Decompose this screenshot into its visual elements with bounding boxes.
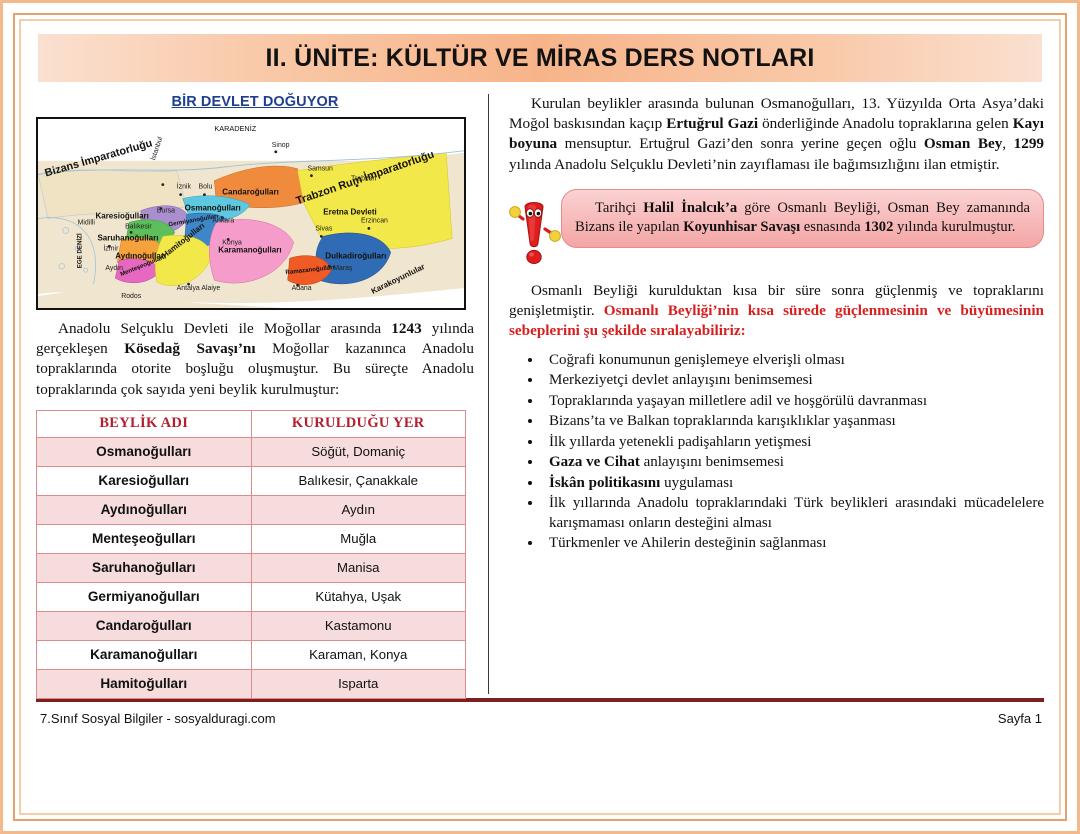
cell-beylik-name: Menteşeoğulları [37, 524, 252, 553]
map-label-karamanogullari: Karamanoğulları [218, 245, 281, 254]
cell-beylik-name: Karamanoğulları [37, 640, 252, 669]
cell-beylik-place: Balıkesir, Çanakkale [251, 466, 466, 495]
section-heading-bir-devlet-doguyor: BİR DEVLET DOĞUYOR [36, 94, 474, 110]
beylik-table: BEYLİK ADI KURULDUĞU YER OsmanoğullarıSö… [36, 410, 466, 699]
list-item: Topraklarında yaşayan milletlere adil ve… [543, 392, 1044, 412]
svg-text:Sinop: Sinop [272, 142, 290, 149]
svg-text:Maraş: Maraş [333, 265, 353, 272]
svg-text:Midilli: Midilli [78, 219, 96, 226]
table-row: HamitoğullarıIsparta [37, 669, 466, 698]
map-label-ege-denizi: EGE DENİZİ [77, 233, 84, 268]
map-label-karesiogullari: Karesioğulları [95, 211, 148, 220]
svg-text:Sivas: Sivas [315, 225, 332, 232]
info-callout-box: Tarihçi Halil İnalcık’a göre Osmanlı Bey… [561, 189, 1044, 249]
list-item: Gaza ve Cihat anlayışını benimsemesi [543, 453, 1044, 473]
page-title-banner: II. ÜNİTE: KÜLTÜR VE MİRAS DERS NOTLARI [38, 34, 1042, 82]
cell-beylik-name: Aydınoğulları [37, 495, 252, 524]
document-page: II. ÜNİTE: KÜLTÜR VE MİRAS DERS NOTLARI … [22, 22, 1058, 812]
table-row: AydınoğullarıAydın [37, 495, 466, 524]
cell-beylik-place: Kütahya, Uşak [251, 582, 466, 611]
paragraph-osmanogullari: Kurulan beylikler arasında bulunan Osman… [509, 94, 1044, 175]
list-item: Türkmenler ve Ahilerin desteğinin sağlan… [543, 534, 1044, 554]
table-row: KaresioğullarıBalıkesir, Çanakkale [37, 466, 466, 495]
table-row: SaruhanoğullarıManisa [37, 553, 466, 582]
svg-text:Adana: Adana [292, 285, 312, 292]
svg-text:Rodos: Rodos [121, 293, 142, 300]
cell-beylik-name: Karesioğulları [37, 466, 252, 495]
list-item: Coğrafi konumunun genişlemeye elverişli … [543, 351, 1044, 371]
paragraph-osmanli-beyligi: Osmanlı Beyliği kurulduktan kısa bir sür… [509, 281, 1044, 342]
column-header-kuruldugu-yer: KURULDUĞU YER [251, 410, 466, 437]
map-label-candarogullari: Candaroğulları [222, 188, 279, 197]
exclamation-mascot-icon [509, 189, 561, 272]
cell-beylik-name: Saruhanoğulları [37, 553, 252, 582]
svg-text:İznik: İznik [177, 182, 192, 191]
cell-beylik-place: Manisa [251, 553, 466, 582]
column-header-beylik-adi: BEYLİK ADI [37, 410, 252, 437]
anatolian-beyliks-map: KARADENİZ EGE DENİZİ Bizans İmparatorluğ… [36, 117, 466, 310]
content-columns: BİR DEVLET DOĞUYOR [36, 94, 1044, 694]
callout-text: Tarihçi Halil İnalcık’a göre Osmanlı Bey… [575, 199, 1030, 238]
svg-text:Erzincan: Erzincan [361, 217, 388, 224]
cell-beylik-place: Muğla [251, 524, 466, 553]
page-footer: 7.Sınıf Sosyal Bilgiler - sosyalduragi.c… [36, 702, 1044, 726]
right-column: Kurulan beylikler arasında bulunan Osman… [501, 94, 1044, 694]
table-row: MenteşeoğullarıMuğla [37, 524, 466, 553]
list-item: Merkeziyetçi devlet anlayışını benimseme… [543, 371, 1044, 391]
cell-beylik-name: Osmanoğulları [37, 437, 252, 466]
svg-text:Samsun: Samsun [307, 166, 333, 173]
column-divider [488, 94, 489, 694]
table-header-row: BEYLİK ADI KURULDUĞU YER [37, 410, 466, 437]
list-item: Bizans’ta ve Balkan topraklarında karışı… [543, 412, 1044, 432]
exclamation-character-graphic [509, 193, 561, 267]
svg-text:Trabzon: Trabzon [351, 176, 376, 183]
cell-beylik-name: Germiyanoğulları [37, 582, 252, 611]
cell-beylik-place: Kastamonu [251, 611, 466, 640]
svg-text:Konya: Konya [222, 239, 242, 246]
map-label-osmanogullari: Osmanoğulları [185, 204, 241, 213]
map-label-saruhanogullari: Saruhanoğulları [97, 233, 158, 242]
page-title: II. ÜNİTE: KÜLTÜR VE MİRAS DERS NOTLARI [266, 44, 815, 73]
table-row: CandaroğullarıKastamonu [37, 611, 466, 640]
map-graphic: KARADENİZ EGE DENİZİ Bizans İmparatorluğ… [38, 119, 464, 308]
cell-beylik-place: Isparta [251, 669, 466, 698]
map-label-karadeniz: KARADENİZ [214, 124, 256, 133]
cell-beylik-name: Candaroğulları [37, 611, 252, 640]
footer-page-number: Sayfa 1 [998, 711, 1042, 726]
svg-text:Ankara: Ankara [212, 217, 234, 224]
reasons-list: Coğrafi konumunun genişlemeye elverişli … [509, 351, 1044, 554]
list-item: İskân politikasını uygulaması [543, 474, 1044, 494]
table-row: OsmanoğullarıSöğüt, Domaniç [37, 437, 466, 466]
map-label-eretna: Eretna Devleti [323, 207, 376, 216]
map-label-dulkadirogullari: Dulkadiroğulları [325, 251, 386, 260]
paragraph-kosedag: Anadolu Selçuklu Devleti ile Moğollar ar… [36, 319, 474, 400]
callout-row: Tarihçi Halil İnalcık’a göre Osmanlı Bey… [509, 189, 1044, 272]
cell-beylik-name: Hamitoğulları [37, 669, 252, 698]
cell-beylik-place: Karaman, Konya [251, 640, 466, 669]
svg-text:Aydın: Aydın [105, 265, 123, 272]
left-column: BİR DEVLET DOĞUYOR [36, 94, 488, 694]
table-row: KaramanoğullarıKaraman, Konya [37, 640, 466, 669]
svg-text:Balıkesir: Balıkesir [125, 223, 152, 230]
svg-text:Bolu: Bolu [198, 184, 212, 191]
list-item: İlk yıllarında Anadolu topraklarındaki T… [543, 494, 1044, 533]
svg-text:İzmir: İzmir [103, 243, 119, 252]
cell-beylik-place: Söğüt, Domaniç [251, 437, 466, 466]
table-row: GermiyanoğullarıKütahya, Uşak [37, 582, 466, 611]
cell-beylik-place: Aydın [251, 495, 466, 524]
footer-source-text: 7.Sınıf Sosyal Bilgiler - sosyalduragi.c… [40, 711, 276, 726]
svg-text:Antalya Alaiye: Antalya Alaiye [177, 285, 221, 292]
list-item: İlk yıllarda yetenekli padişahların yeti… [543, 433, 1044, 453]
